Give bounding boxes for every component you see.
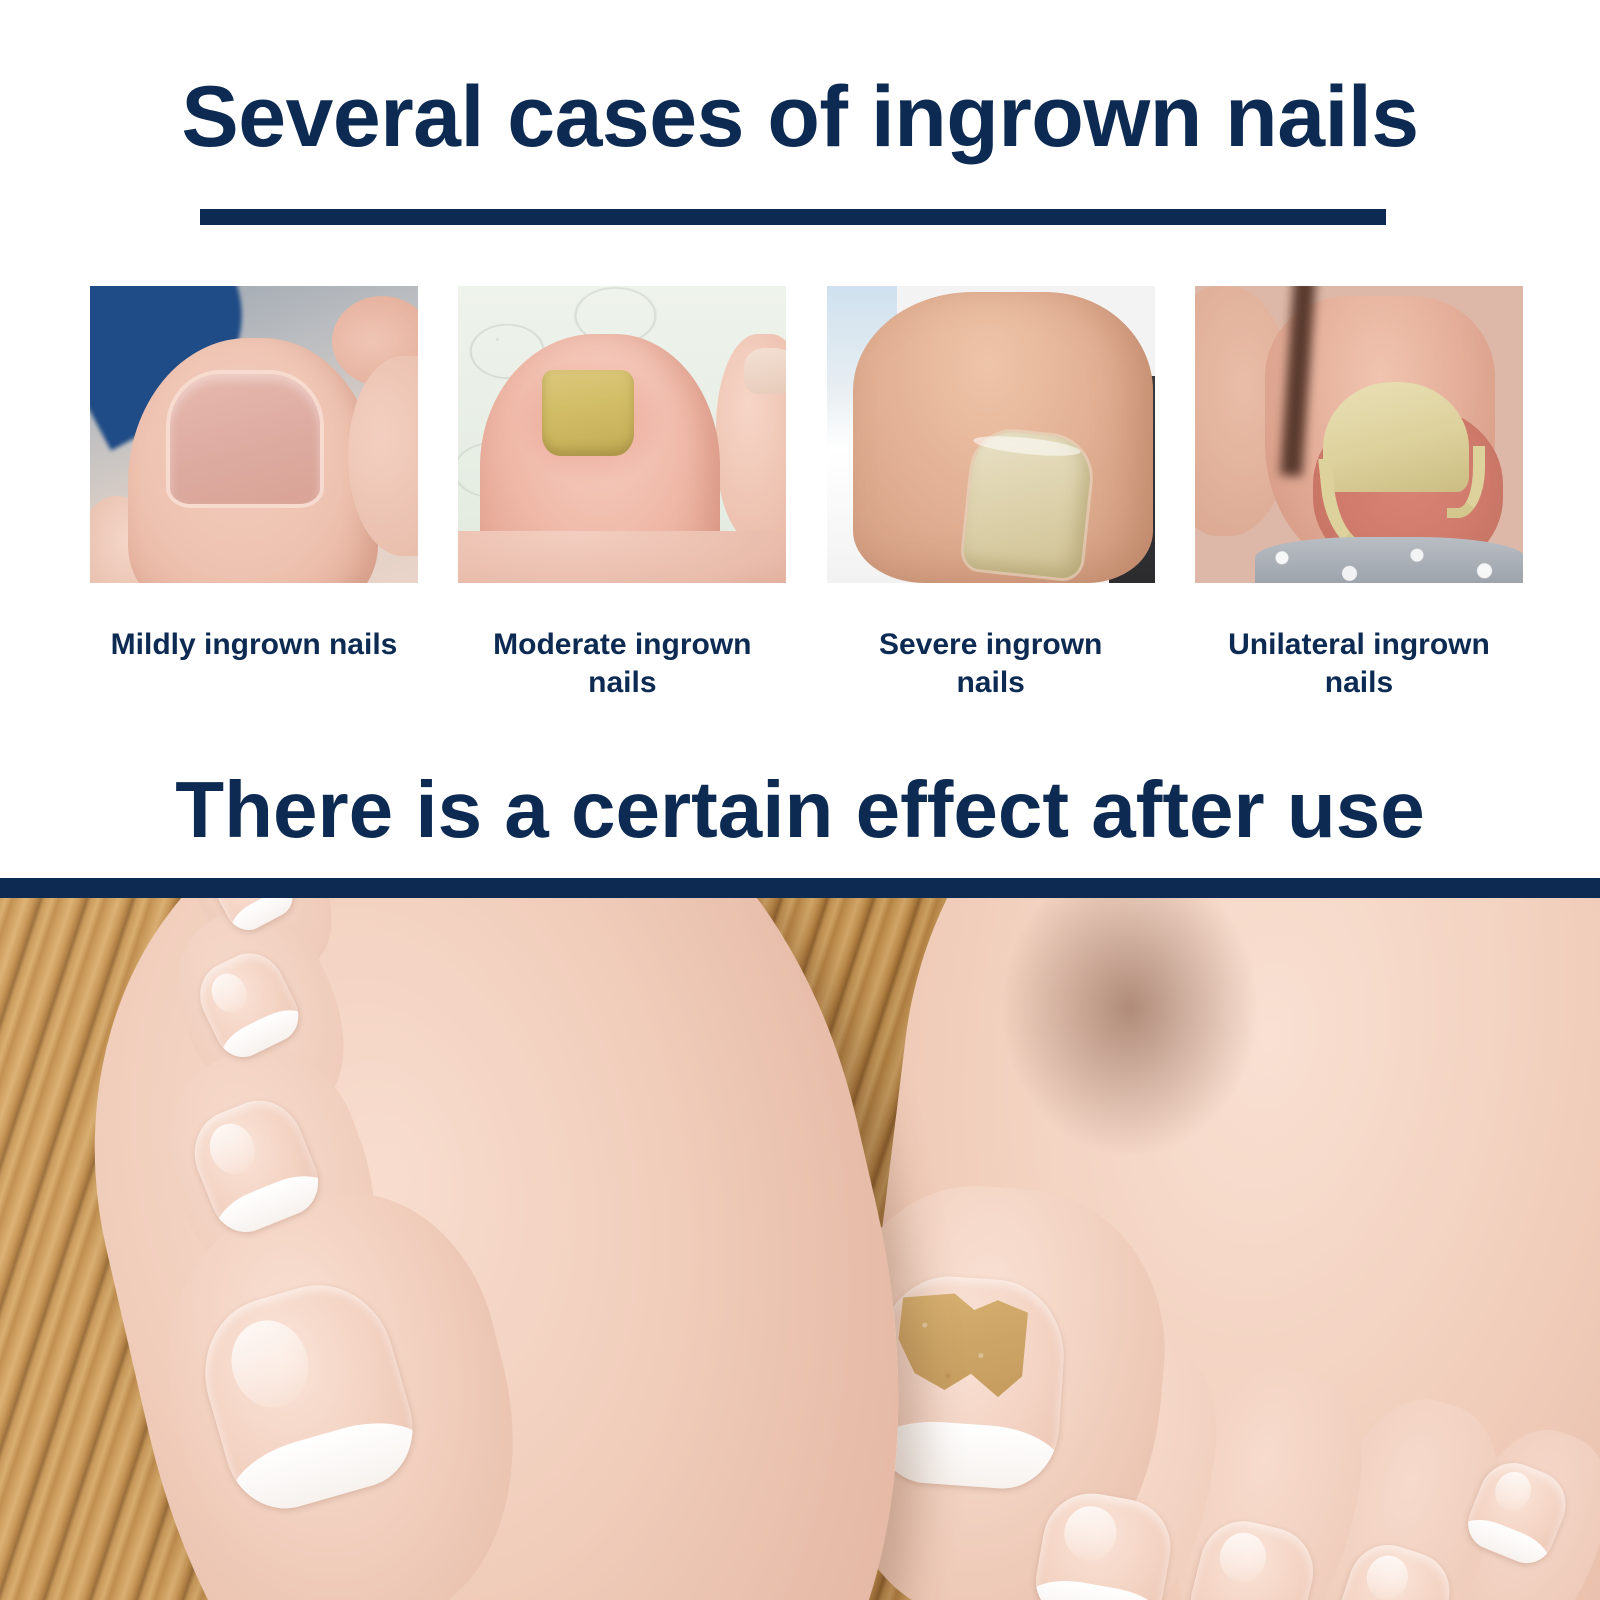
cases-row: Mildly ingrown nails Moderate ingrown na…: [90, 286, 1523, 706]
case-caption: Severe ingrown nails: [841, 626, 1141, 703]
photo-right-big-toenail: [869, 1272, 1069, 1492]
photo-nail-white-tip: [869, 1416, 1069, 1492]
severe-ingrown-nail-photo: [827, 286, 1155, 583]
photo-foot-pad: [458, 531, 786, 583]
case-caption: Mildly ingrown nails: [104, 626, 404, 664]
case-card-moderate: Moderate ingrown nails: [458, 286, 786, 706]
photo-nail-gloss: [1361, 1550, 1414, 1600]
case-card-severe: Severe ingrown nails: [827, 286, 1155, 706]
photo-yellow-toenail: [542, 370, 634, 456]
after-use-feet-photo: [0, 898, 1600, 1600]
photo-nail-gloss: [1215, 1528, 1271, 1587]
photo-nail-gloss: [202, 1117, 262, 1181]
photo-second-toenail: [744, 348, 786, 394]
photo-nail-white-tip: [1183, 1590, 1309, 1600]
page-title: Several cases of ingrown nails: [0, 74, 1600, 160]
photo-fabric-background: [1255, 537, 1523, 583]
case-card-mild: Mildly ingrown nails: [90, 286, 418, 706]
case-card-unilateral: Unilateral ingrown nails: [1195, 286, 1523, 706]
photo-nail-gloss: [205, 967, 254, 1018]
photo-toenail: [170, 374, 320, 504]
photo-nail-gloss: [222, 1311, 319, 1417]
photo-skin-texture: [887, 302, 1117, 422]
moderate-ingrown-nail-photo: [458, 286, 786, 583]
photo-nail-gloss: [1061, 1502, 1121, 1564]
section-divider-bar: [0, 878, 1600, 898]
photo-nail-gloss: [215, 898, 255, 899]
photo-nail-white-tip: [1030, 1573, 1170, 1600]
title-underline-rule: [200, 209, 1386, 225]
cases-section: Several cases of ingrown nails Mildly in…: [0, 0, 1600, 878]
case-caption: Moderate ingrown nails: [472, 626, 772, 703]
photo-nail-gloss: [1490, 1467, 1537, 1516]
case-caption: Unilateral ingrown nails: [1209, 626, 1509, 703]
mild-ingrown-nail-photo: [90, 286, 418, 583]
effect-heading: There is a certain effect after use: [0, 770, 1600, 850]
unilateral-ingrown-nail-photo: [1195, 286, 1523, 583]
